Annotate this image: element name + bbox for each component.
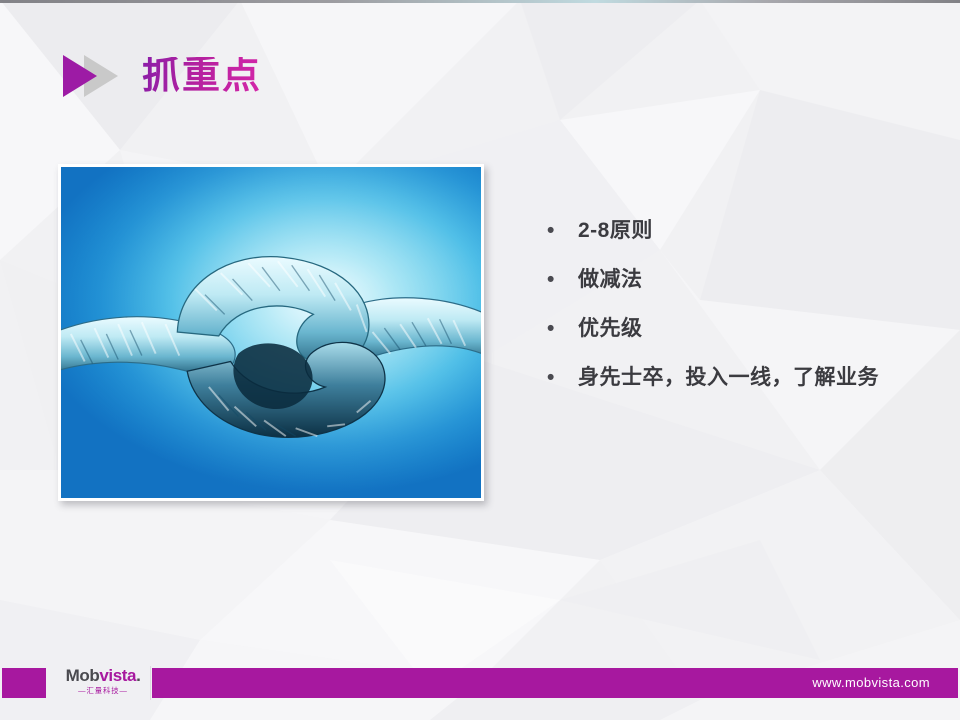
rope-illustration <box>61 167 481 498</box>
slide-title-row: 抓重点 <box>58 48 262 104</box>
logo-accent: vista <box>99 666 136 685</box>
brand-logo: Mobvista. —汇量科技— <box>57 666 149 696</box>
bullet-marker-icon: • <box>540 255 578 304</box>
logo-wordmark: Mobvista. <box>57 666 149 685</box>
photo-canvas <box>61 167 481 498</box>
page-title: 抓重点 <box>142 57 262 95</box>
list-item: • 优先级 <box>540 304 930 353</box>
bullet-text: 2-8原则 <box>578 206 930 255</box>
double-triangle-play-icon <box>58 54 132 98</box>
bullet-marker-icon: • <box>540 206 578 255</box>
bullet-marker-icon: • <box>540 304 578 353</box>
top-edge-strip <box>0 0 960 3</box>
bullet-list: • 2-8原则 • 做减法 • 优先级 • 身先士卒，投入一线，了解业务 <box>540 206 930 402</box>
logo-divider <box>150 666 151 700</box>
triangle-purple-icon <box>63 55 97 97</box>
bullet-marker-icon: • <box>540 353 578 402</box>
footer-bar-left <box>2 668 46 698</box>
bullet-text: 身先士卒，投入一线，了解业务 <box>578 353 930 402</box>
list-item: • 2-8原则 <box>540 206 930 255</box>
bullet-text: 优先级 <box>578 304 930 353</box>
logo-subtitle: —汇量科技— <box>61 685 146 695</box>
knotted-rope-photo <box>58 164 484 501</box>
list-item: • 做减法 <box>540 255 930 304</box>
slide-canvas: 抓重点 <box>0 0 960 720</box>
list-item: • 身先士卒，投入一线，了解业务 <box>540 353 930 402</box>
logo-prefix: Mob <box>66 666 100 685</box>
logo-suffix: . <box>136 666 140 685</box>
footer-website-url[interactable]: www.mobvista.com <box>812 672 930 694</box>
bullet-text: 做减法 <box>578 255 930 304</box>
